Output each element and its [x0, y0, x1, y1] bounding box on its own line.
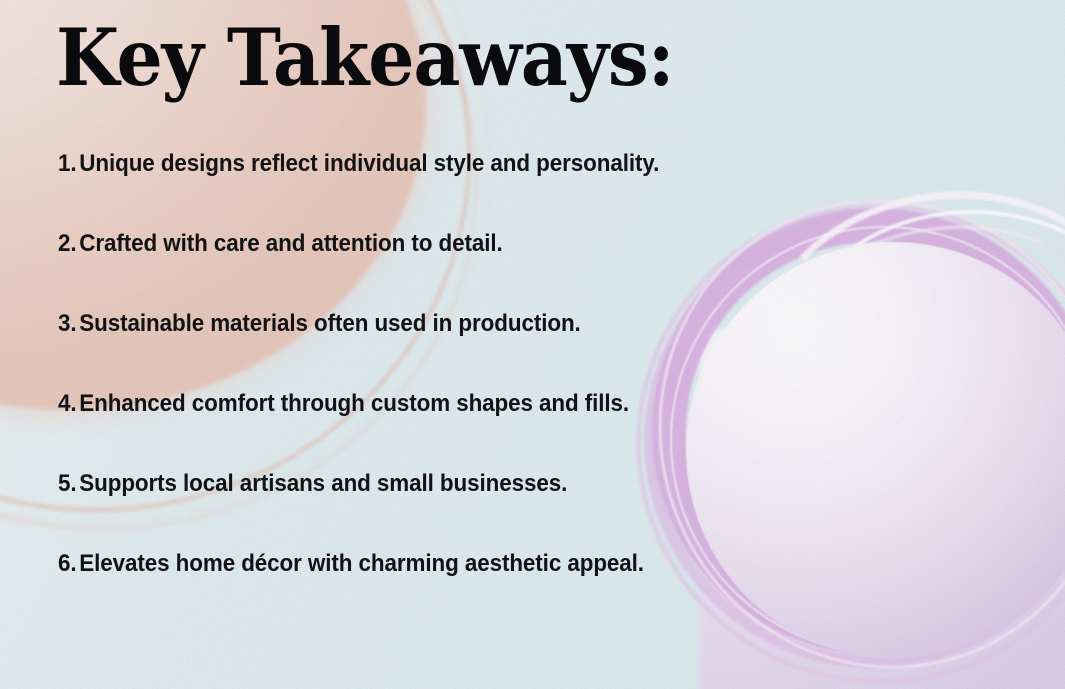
list-item-number: 2.	[58, 230, 77, 257]
list-item: 2.Crafted with care and attention to det…	[58, 232, 918, 312]
list-item: 6.Elevates home décor with charming aest…	[58, 552, 918, 632]
list-item-text: Enhanced comfort through custom shapes a…	[79, 390, 629, 417]
list-item: 4.Enhanced comfort through custom shapes…	[58, 392, 918, 472]
list-item: 1.Unique designs reflect individual styl…	[58, 152, 918, 232]
list-item: 5.Supports local artisans and small busi…	[58, 472, 918, 552]
list-item-text: Unique designs reflect individual style …	[79, 150, 659, 177]
list-item-number: 3.	[58, 310, 77, 337]
list-item-text: Elevates home décor with charming aesthe…	[79, 550, 644, 577]
list-item-number: 4.	[58, 390, 77, 417]
list-item-number: 5.	[58, 470, 77, 497]
content-layer: Key Takeaways: 1.Unique designs reflect …	[0, 0, 1065, 689]
list-item-text: Crafted with care and attention to detai…	[79, 230, 502, 257]
list-item-number: 6.	[58, 550, 77, 577]
list-item-text: Sustainable materials often used in prod…	[79, 310, 580, 337]
slide-canvas: Key Takeaways: 1.Unique designs reflect …	[0, 0, 1065, 689]
list-item-number: 1.	[58, 150, 77, 177]
list-item-text: Supports local artisans and small busine…	[79, 470, 567, 497]
takeaways-list: 1.Unique designs reflect individual styl…	[58, 152, 998, 632]
list-item: 3.Sustainable materials often used in pr…	[58, 312, 918, 392]
page-title: Key Takeaways:	[56, 18, 673, 97]
